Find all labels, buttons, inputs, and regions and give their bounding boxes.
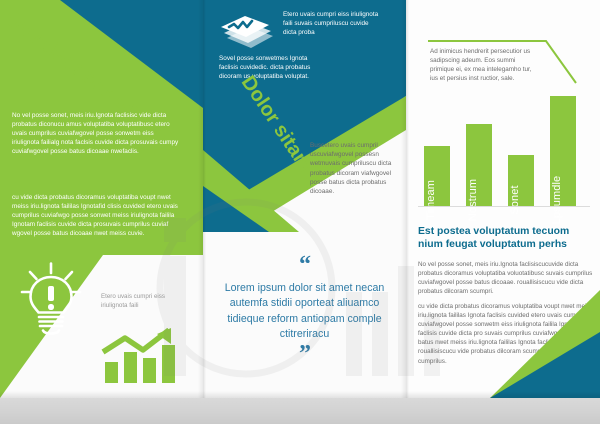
pull-quote-text: Lorem ipsum dolor sit amet necan autemfa… [217, 281, 392, 343]
panel-middle: Etero uvais cumpri eiss iriulignota fail… [203, 0, 406, 398]
right-lead-paragraph: Ad inimicus hendrerit persecutior us sad… [430, 47, 540, 83]
pull-quote-block: “ Lorem ipsum dolor sit amet necan autem… [217, 258, 392, 361]
fold-shadow-left [198, 0, 203, 398]
middle-text-1: Etero uvais cumpri eiss iriulignota fail… [283, 10, 379, 38]
bar-label-lpsumdle: Lpsumdle [551, 176, 563, 225]
middle-text-3: Buscetero uvais cumpril uscuviafwgovel p… [310, 141, 402, 196]
bar-sonet: Sonet [508, 155, 534, 206]
page-shadow-strip [0, 398, 600, 424]
left-paragraph-1: No vel posse sonet, meis iriu.Ignota fac… [12, 111, 180, 156]
bar-lpsumdle: Lpsumdle [550, 96, 576, 206]
left-paragraph-2: cu vide dicta probatus dicoramus volupta… [12, 193, 180, 238]
money-stack-icon [219, 12, 275, 52]
middle-text-2: Sovel posse sonwetmes Ignota faclisis cu… [219, 54, 323, 82]
page-shadow-gradient [0, 391, 600, 398]
fold-line-left [203, 0, 206, 398]
growth-bar-chart-arrow-icon [99, 328, 185, 388]
fold-line-right [406, 0, 409, 398]
bar-nostrum: Nostrum [466, 124, 492, 206]
bar-chart: Timeam Nostrum Sonet Lpsumdle [418, 86, 590, 206]
quote-close-icon: ” [217, 347, 392, 361]
bar-label-timeam: Timeam [425, 180, 437, 220]
lightbulb-idea-icon [20, 262, 82, 338]
left-caption: Etero uvais cumpri eiss iriulignota fail… [101, 293, 193, 310]
brochure-canvas: Ouvaisosses oneats No vel posse sonet, m… [0, 0, 600, 424]
bar-timeam: Timeam [424, 146, 450, 206]
bar-label-sonet: Sonet [509, 185, 521, 214]
panel-left: Ouvaisosses oneats No vel posse sonet, m… [0, 0, 203, 398]
right-paragraph-1: No vel posse sonet, meis iriu.Ignota fac… [418, 260, 596, 296]
fold-shadow-right [401, 0, 406, 398]
bar-label-nostrum: Nostrum [467, 179, 479, 221]
quote-open-icon: “ [217, 258, 392, 272]
chart-baseline [418, 206, 590, 207]
right-headline: Est postea voluptatum tecuom nium feugat… [418, 225, 594, 252]
panel-right: Ad inimicus hendrerit persecutior us sad… [406, 0, 600, 398]
